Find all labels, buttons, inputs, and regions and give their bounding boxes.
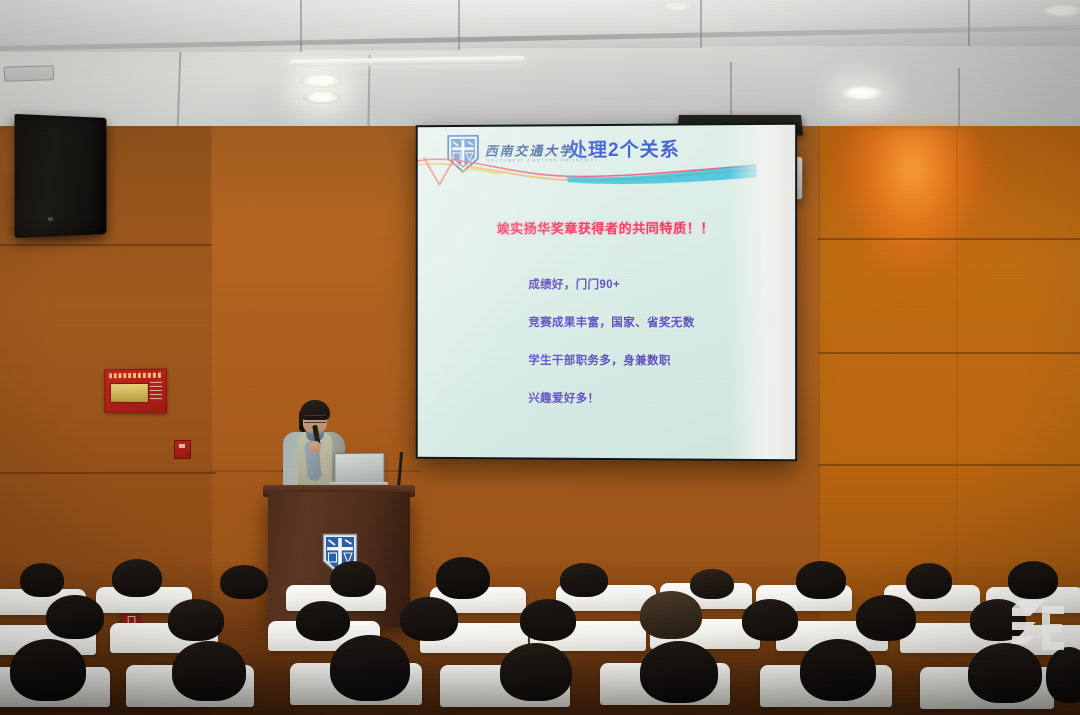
audience-head [560,563,608,597]
audience-head [906,563,952,599]
ceiling-downlight [300,74,342,88]
poster-title-bar [109,373,162,379]
projection-screen-frame: 西南交通大学 SOUTHWEST JIAOTONG UNIVERSITY 处理2… [416,123,797,462]
speaker-led-icon [48,217,53,221]
audience-head [46,595,104,639]
wall-seam [0,244,212,246]
audience-head [640,591,702,639]
poster-image [110,383,149,403]
audience-head [742,599,798,641]
ceiling-seam [177,52,181,130]
ceiling-seam [700,0,702,48]
ceiling-light-strip [290,56,525,67]
ceiling-downlight [840,86,884,101]
emc-watermark-logo-icon [1008,598,1072,662]
projection-screen-surface: 西南交通大学 SOUTHWEST JIAOTONG UNIVERSITY 处理2… [418,125,795,460]
audience-head [330,561,376,597]
audience-head [436,557,490,599]
screen-sheen [418,125,795,460]
wall-seam [818,238,1080,240]
audience-head [1008,561,1058,599]
audience-head [112,559,162,597]
lecture-hall-photo: 安全出口 西南交通大学 SOUTHWEST JIAOTONG UNIVERSIT… [0,0,1080,715]
presenter-laptop[interactable] [334,453,384,486]
fire-alarm-indicator-icon [179,444,185,448]
wall-spotlight-glow [828,126,1028,366]
poster-text-lines [150,382,162,402]
audience-head [690,569,734,599]
audience-head [20,563,64,597]
ceiling-seam [458,0,460,50]
audience-shadow [0,651,1080,715]
wall-speaker-icon [15,114,107,238]
fire-alarm-call-point[interactable] [174,440,191,459]
ceiling-seam [367,55,370,131]
ceiling-downlight [1040,4,1080,18]
audience-head [796,561,846,599]
audience-head [856,595,916,641]
audience-head [400,597,458,641]
ceiling-downlight [660,2,694,12]
audience-head [168,599,224,641]
fire-safety-poster [104,369,167,414]
wall-seam [0,472,216,474]
audience-area [0,555,1080,715]
presenter-hand [309,441,321,453]
wall-seam [818,352,1080,354]
wall-seam [818,464,1080,466]
audience-head [520,599,576,641]
ceiling [0,0,1080,132]
ceiling-panel [700,0,1080,46]
audience-head [296,601,350,641]
ceiling-downlight [303,91,341,104]
glasses-icon [304,415,326,423]
audience-head [220,565,268,599]
wall-seam [956,126,958,606]
ceiling-vent [4,65,54,82]
ceiling-seam [968,0,970,46]
ceiling-seam [958,68,960,130]
